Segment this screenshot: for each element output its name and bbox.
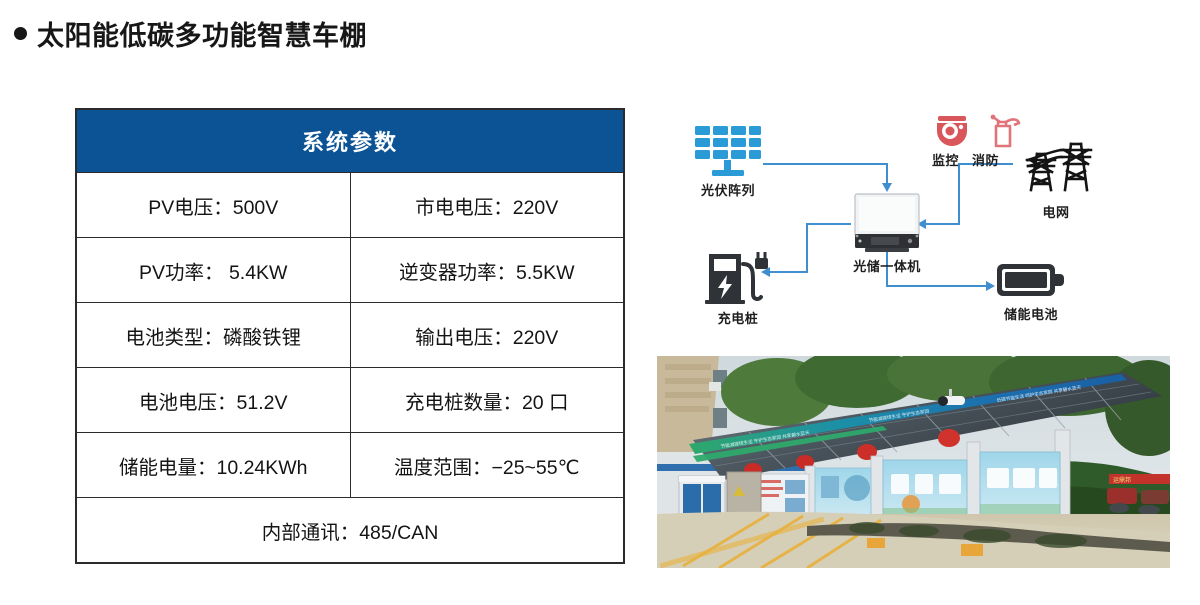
page-title: 太阳能低碳多功能智慧车棚	[14, 14, 367, 53]
diagram-node-pv-array: 光伏阵列	[693, 122, 763, 199]
spec-cell-mains-voltage: 市电电压：220V	[350, 173, 624, 238]
carport-photo-illustration: 节能减碳绿生活 守护生态家园 共享碧水蓝天 节能减碳绿生活 守护生态家园 低碳节…	[657, 356, 1170, 568]
table-row: 内部通讯：485/CAN	[76, 498, 624, 564]
diagram-labels-monitor-fire: 监控 消防	[932, 150, 999, 169]
diagram-node-fire-safety	[985, 114, 1023, 148]
spec-cell-battery-voltage: 电池电压：51.2V	[76, 368, 350, 433]
power-tower-icon	[1015, 138, 1097, 200]
diagram-label-fire-safety: 消防	[972, 150, 999, 169]
inverter-icon	[851, 192, 923, 254]
fire-extinguisher-icon	[985, 114, 1023, 148]
battery-icon	[995, 258, 1067, 302]
diagram-label-storage-battery: 储能电池	[1004, 304, 1058, 323]
diagram-label-charging-pile: 充电桩	[718, 308, 759, 327]
spec-cell-inverter-power: 逆变器功率：5.5KW	[350, 238, 624, 303]
spec-cell-internal-comm: 内部通讯：485/CAN	[76, 498, 624, 564]
spec-cell-output-voltage: 输出电压：220V	[350, 303, 624, 368]
solar-carport-photo: 节能减碳绿生活 守护生态家园 共享碧水蓝天 节能减碳绿生活 守护生态家园 低碳节…	[657, 356, 1170, 568]
diagram-label-monitoring: 监控	[932, 150, 959, 169]
table-header-row: 系统参数	[76, 109, 624, 173]
table-row: 电池电压：51.2V 充电桩数量：20 口	[76, 368, 624, 433]
diagram-label-power-grid: 电网	[1042, 202, 1069, 221]
spec-cell-storage-capacity: 储能电量：10.24KWh	[76, 433, 350, 498]
table-header-title: 系统参数	[76, 109, 624, 173]
system-parameters-table: 系统参数 PV电压：500V 市电电压：220V PV功率： 5.4KW 逆变器…	[75, 108, 625, 564]
diagram-node-storage-battery: 储能电池	[995, 258, 1067, 323]
diagram-node-inverter: 光储一体机	[851, 192, 923, 275]
solar-panel-icon	[693, 122, 763, 178]
spec-cell-charger-count: 充电桩数量：20 口	[350, 368, 624, 433]
diagram-node-charging-pile: 充电桩	[703, 250, 773, 327]
svg-text:运鼎邦: 运鼎邦	[1113, 476, 1131, 484]
cctv-camera-icon	[933, 114, 971, 148]
table-row: 储能电量：10.24KWh 温度范围：−25~55℃	[76, 433, 624, 498]
table-row: PV电压：500V 市电电压：220V	[76, 173, 624, 238]
bullet-dot-icon	[14, 27, 27, 40]
table-row: 电池类型：磷酸铁锂 输出电压：220V	[76, 303, 624, 368]
table-row: PV功率： 5.4KW 逆变器功率：5.5KW	[76, 238, 624, 303]
diagram-label-pv-array: 光伏阵列	[701, 180, 755, 199]
diagram-node-monitoring	[933, 114, 971, 148]
diagram-node-power-grid: 电网	[1015, 138, 1097, 221]
diagram-label-inverter: 光储一体机	[853, 256, 921, 275]
spec-cell-pv-power: PV功率： 5.4KW	[76, 238, 350, 303]
charging-pile-icon	[703, 250, 773, 306]
system-architecture-diagram: 光伏阵列 光储一体机	[655, 100, 1175, 340]
page-title-text: 太阳能低碳多功能智慧车棚	[37, 14, 367, 53]
spec-cell-pv-voltage: PV电压：500V	[76, 173, 350, 238]
spec-cell-battery-type: 电池类型：磷酸铁锂	[76, 303, 350, 368]
spec-cell-temp-range: 温度范围：−25~55℃	[350, 433, 624, 498]
